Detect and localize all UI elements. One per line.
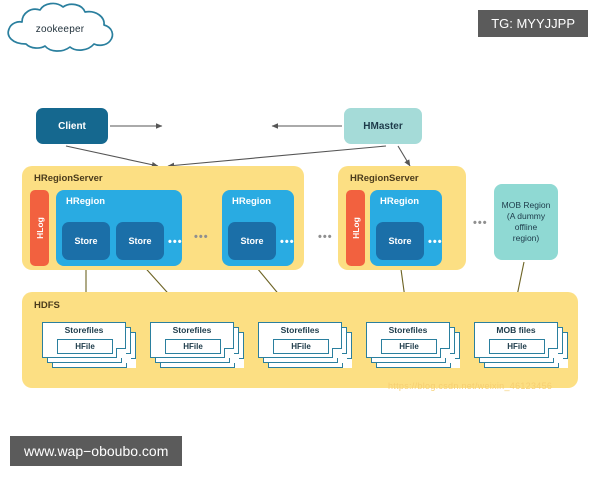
store-1-label: Store [74, 236, 97, 246]
region-ellipsis-1: ••• [194, 232, 209, 243]
storefiles-stack-1-label: Storefiles [42, 325, 126, 335]
zookeeper-node[interactable]: zookeeper [0, 0, 120, 58]
store-2[interactable]: Store [116, 222, 164, 260]
client-label: Client [58, 121, 86, 132]
mob-region-node[interactable]: MOB Region (A dummy offline region) [494, 184, 558, 260]
zookeeper-label: zookeeper [0, 0, 120, 58]
store-1[interactable]: Store [62, 222, 110, 260]
store-2-label: Store [128, 236, 151, 246]
hmaster-node[interactable]: HMaster [344, 108, 422, 144]
hfile-4[interactable]: HFile [381, 339, 437, 354]
edge-hmaster-to-regionserver-1 [168, 146, 386, 166]
page-fold-icon [224, 348, 234, 358]
store-3-label: Store [240, 236, 263, 246]
hfile-3[interactable]: HFile [273, 339, 329, 354]
storefiles-stack-2[interactable]: Storefiles HFile [150, 322, 244, 368]
store-4[interactable]: Store [376, 222, 424, 260]
storefiles-stack-4[interactable]: Storefiles HFile [366, 322, 460, 368]
store-ellipsis-1: ••• [168, 237, 183, 248]
store-4-label: Store [388, 236, 411, 246]
store-ellipsis-2: ••• [280, 237, 295, 248]
hmaster-label: HMaster [363, 121, 402, 132]
site-watermark: www.wap−oboubo.com [10, 436, 182, 466]
mob-gap-ellipsis: ••• [473, 218, 488, 229]
hlog-2[interactable]: HLog [346, 190, 365, 266]
mob-region-line-4: region) [513, 233, 539, 244]
storefiles-stack-4-label: Storefiles [366, 325, 450, 335]
storefiles-stack-1[interactable]: Storefiles HFile [42, 322, 136, 368]
page-fold-icon [116, 348, 126, 358]
storefiles-stack-3[interactable]: Storefiles HFile [258, 322, 352, 368]
hfile-2[interactable]: HFile [165, 339, 221, 354]
store-3[interactable]: Store [228, 222, 276, 260]
hregion-2-label: HRegion [232, 196, 271, 207]
edge-hmaster-to-regionserver-2 [398, 146, 410, 166]
storefiles-stack-2-label: Storefiles [150, 325, 234, 335]
edge-client-to-regionserver-1 [66, 146, 158, 166]
page-fold-icon [548, 348, 558, 358]
hfile-1[interactable]: HFile [57, 339, 113, 354]
mob-region-line-1: MOB Region [502, 200, 551, 211]
tg-badge: TG: MYYJJPP [478, 10, 588, 37]
hregion-1-label: HRegion [66, 196, 105, 207]
hlog-1-label: HLog [35, 217, 45, 239]
page-fold-icon [440, 348, 450, 358]
hlog-1[interactable]: HLog [30, 190, 49, 266]
mob-region-line-2: (A dummy [507, 211, 545, 222]
regionserver-2-label: HRegionServer [350, 173, 419, 184]
hdfs-label: HDFS [34, 300, 60, 311]
regionserver-gap-ellipsis: ••• [318, 232, 333, 243]
regionserver-1-label: HRegionServer [34, 173, 103, 184]
page-fold-icon [332, 348, 342, 358]
mob-region-line-3: offline [515, 222, 538, 233]
hfile-5[interactable]: HFile [489, 339, 545, 354]
hbase-architecture-diagram: Client zookeeper HMaster HRegionServer H… [0, 0, 600, 480]
inner-watermark: https://blog.csdn.net/weixin_46123456 [388, 381, 552, 391]
storefiles-stack-3-label: Storefiles [258, 325, 342, 335]
client-node[interactable]: Client [36, 108, 108, 144]
mobfiles-stack[interactable]: MOB files HFile [474, 322, 568, 368]
store-ellipsis-3: ••• [428, 237, 443, 248]
hlog-2-label: HLog [351, 217, 361, 239]
mobfiles-stack-label: MOB files [474, 325, 558, 335]
hregion-3-label: HRegion [380, 196, 419, 207]
